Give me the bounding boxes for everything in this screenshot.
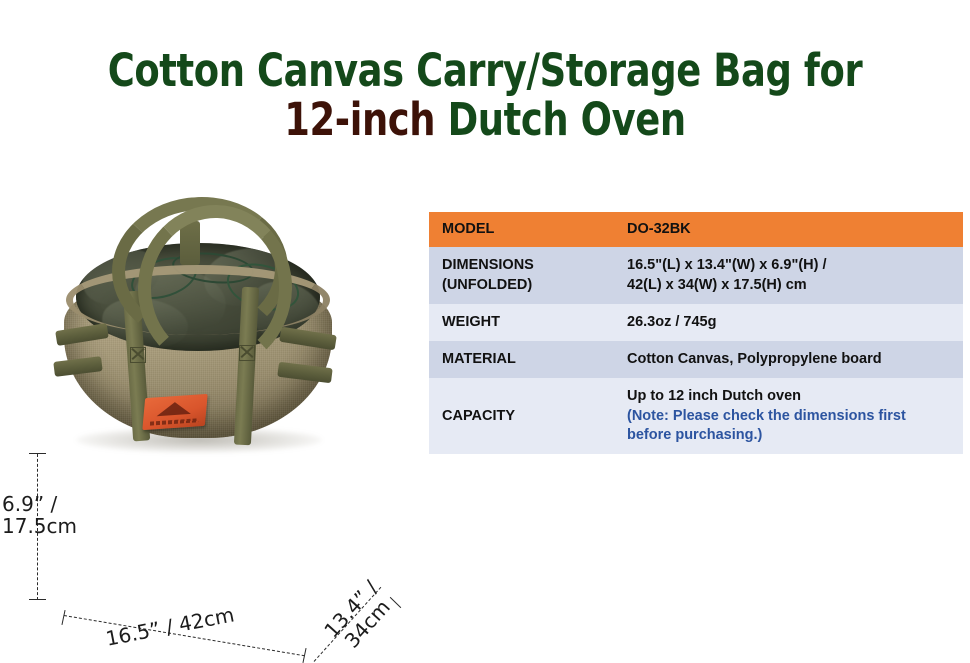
title-size-highlight: 12-inch (284, 93, 435, 146)
dimensions-value-line1: 16.5"(L) x 13.4"(W) x 6.9"(H) / (627, 257, 827, 273)
table-row-capacity: CAPACITY Up to 12 inch Dutch oven (Note:… (429, 378, 963, 454)
strap-stitch (130, 347, 146, 363)
product-photo-area: 6.9” / 17.5cm 16.5” / 42cm 13.4” / 34cm (0, 175, 430, 535)
dimensions-label-line2: (UNFOLDED) (442, 277, 532, 293)
infographic-page: Cotton Canvas Carry/Storage Bag for 12-i… (0, 0, 970, 600)
table-row-weight: WEIGHT 26.3oz / 745g (429, 304, 963, 341)
table-row-dimensions: DIMENSIONS (UNFOLDED) 16.5"(L) x 13.4"(W… (429, 247, 963, 304)
table-row-model: MODEL DO-32BK (429, 212, 963, 247)
width-dimension-label: 13.4” / 34cm (320, 576, 398, 656)
product-bag-illustration (52, 195, 342, 460)
length-dimension-label: 16.5” / 42cm (104, 602, 236, 650)
cell-label-weight: WEIGHT (429, 304, 614, 341)
title-line-1: Cotton Canvas Carry/Storage Bag for (87, 48, 882, 94)
cell-value-dimensions: 16.5"(L) x 13.4"(W) x 6.9"(H) / 42(L) x … (614, 247, 963, 304)
cell-value-material: Cotton Canvas, Polypropylene board (614, 341, 963, 378)
table-row-material: MATERIAL Cotton Canvas, Polypropylene bo… (429, 341, 963, 378)
cell-label-capacity: CAPACITY (429, 378, 614, 454)
cell-label-model: MODEL (429, 212, 614, 247)
height-dimension-label: 6.9” / 17.5cm (2, 493, 88, 538)
title-product-name: Dutch Oven (435, 93, 686, 146)
capacity-note-line2: before purchasing.) (627, 426, 963, 445)
cell-label-material: MATERIAL (429, 341, 614, 378)
specification-table: MODEL DO-32BK DIMENSIONS (UNFOLDED) 16.5… (429, 212, 963, 454)
cell-value-model: DO-32BK (614, 212, 963, 247)
cell-label-dimensions: DIMENSIONS (UNFOLDED) (429, 247, 614, 304)
dimensions-label-line1: DIMENSIONS (442, 257, 534, 273)
page-title: Cotton Canvas Carry/Storage Bag for 12-i… (0, 48, 970, 143)
mountain-icon (157, 401, 192, 416)
brand-logo-patch (142, 394, 207, 430)
capacity-note-line1: (Note: Please check the dimensions first (627, 407, 963, 426)
length-tick-left (61, 610, 65, 625)
height-label-line1: 6.9” / (2, 492, 57, 516)
title-line-2: 12-inch Dutch Oven (87, 97, 882, 143)
capacity-value: Up to 12 inch Dutch oven (627, 388, 801, 404)
logo-wordmark (150, 418, 199, 425)
cell-value-weight: 26.3oz / 745g (614, 304, 963, 341)
length-tick-right (302, 648, 306, 663)
dimensions-value-line2: 42(L) x 34(W) x 17.5(H) cm (627, 277, 807, 293)
cell-value-capacity: Up to 12 inch Dutch oven (Note: Please c… (614, 378, 963, 454)
height-label-line2: 17.5cm (2, 514, 77, 538)
